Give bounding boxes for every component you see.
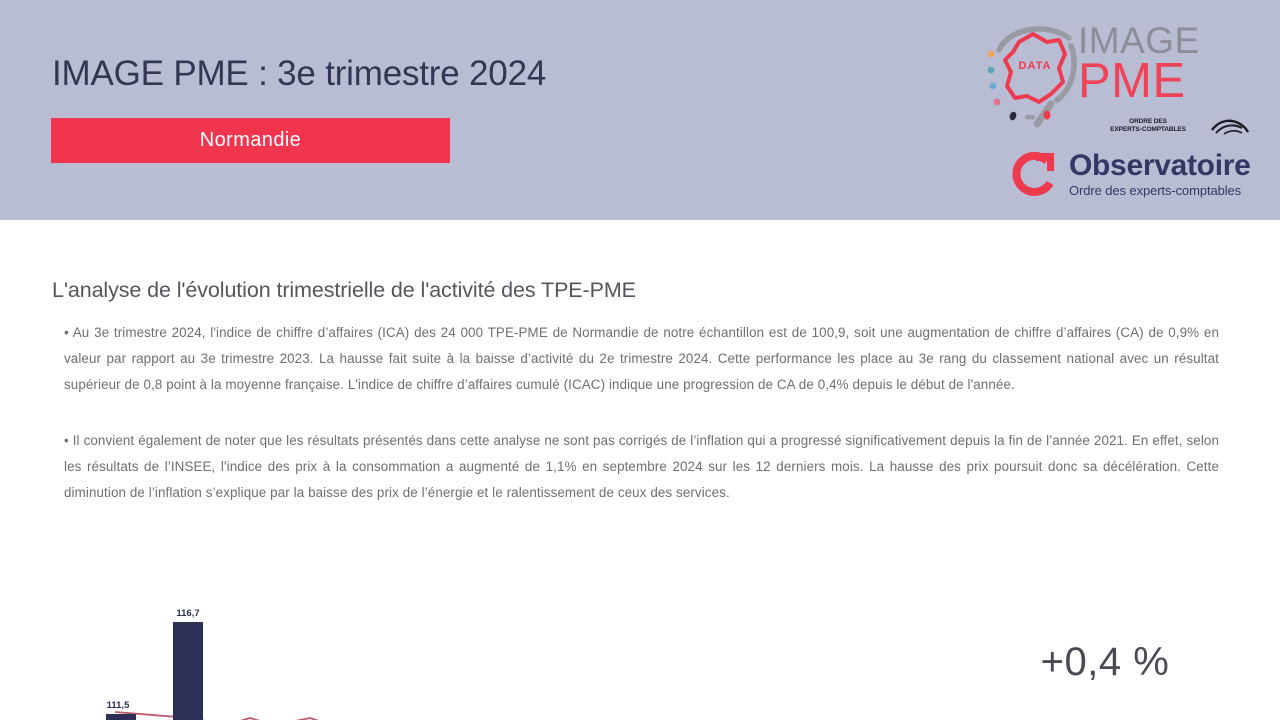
observatoire-text: Observatoire Ordre des experts-comptable… xyxy=(1069,150,1250,198)
oec-endorsement-text: ORDRE DES EXPERTS-COMPTABLES xyxy=(1088,118,1208,133)
oec-endorsement: ORDRE DES EXPERTS-COMPTABLES xyxy=(1088,117,1251,137)
oec-endorsement-line1: ORDRE DES xyxy=(1088,118,1208,126)
observatoire-logo: Observatoire Ordre des experts-comptable… xyxy=(1009,146,1255,208)
kpi-value: +0,4 % xyxy=(960,640,1250,684)
map-data-label: DATA xyxy=(1019,60,1052,72)
analysis-paragraph: • Au 3e trimestre 2024, l'indice de chif… xyxy=(64,320,1219,398)
analysis-paragraphs: • Au 3e trimestre 2024, l'indice de chif… xyxy=(64,320,1219,506)
observatoire-circle-mark-icon xyxy=(1009,148,1061,200)
france-map-magnifier-icon: DATA xyxy=(985,16,1081,134)
analysis-heading: L'analyse de l'évolution trimestrielle d… xyxy=(52,278,636,303)
oec-swoosh-icon xyxy=(1210,117,1250,136)
image-pme-logo: DATA IMAGE PME ORDRE DES EXPERTS-COMPTA xyxy=(985,14,1255,142)
wordmark-pme: PME xyxy=(1078,58,1254,105)
page-title: IMAGE PME : 3e trimestre 2024 xyxy=(52,54,546,94)
kpi-block: +0,4 % xyxy=(960,640,1250,684)
chart-bar xyxy=(173,622,203,720)
image-pme-wordmark: IMAGE PME xyxy=(1078,22,1254,105)
region-badge-label: Normandie xyxy=(200,129,301,152)
observatoire-name: Observatoire xyxy=(1069,150,1250,182)
oec-endorsement-line2: EXPERTS-COMPTABLES xyxy=(1088,126,1208,134)
analysis-paragraph: • Il convient également de noter que les… xyxy=(64,428,1219,506)
ica-bar-chart: 116,7 111,5 xyxy=(60,600,760,720)
observatoire-subtitle: Ordre des experts-comptables xyxy=(1069,183,1250,198)
chart-canvas: 116,7 111,5 xyxy=(60,600,760,720)
chart-bar-value-label: 111,5 xyxy=(107,700,130,711)
region-badge: Normandie xyxy=(51,118,450,163)
logo-cluster: DATA IMAGE PME ORDRE DES EXPERTS-COMPTA xyxy=(985,14,1255,210)
chart-bar xyxy=(106,714,136,720)
chart-bar-value-label: 116,7 xyxy=(176,608,199,619)
header-band: IMAGE PME : 3e trimestre 2024 Normandie … xyxy=(0,0,1280,220)
